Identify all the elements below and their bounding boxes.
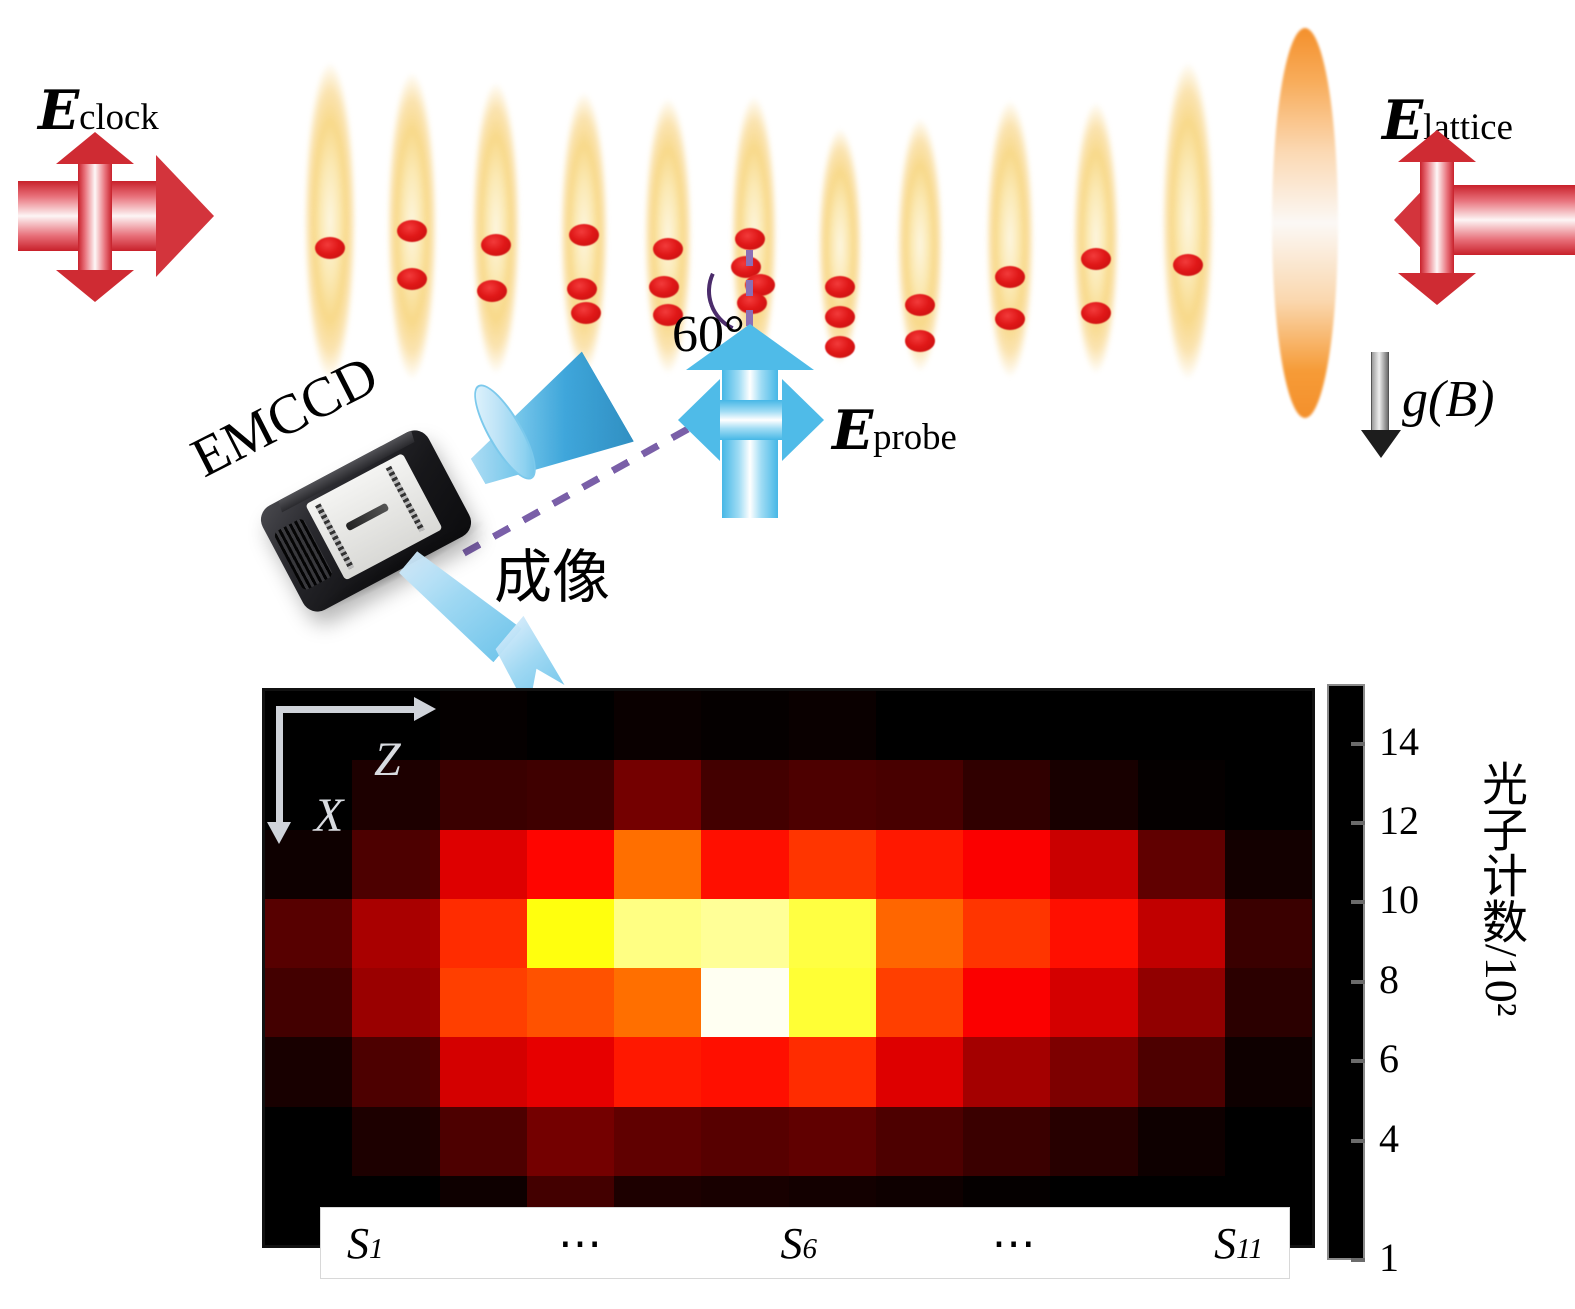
heatmap-cell (789, 691, 876, 760)
x-axis-label: X (314, 788, 343, 843)
colorbar-tick-mark (1351, 980, 1365, 984)
heatmap-cell (527, 899, 614, 968)
heatmap-cell (1138, 760, 1225, 829)
heatmap-cell (1225, 1107, 1312, 1176)
heatmap-cell (1050, 691, 1137, 760)
heatmap-cell (614, 760, 701, 829)
probe-field-subscript: probe (873, 416, 957, 457)
gravity-label: g(B) (1402, 370, 1494, 429)
heatmap-cell (701, 760, 788, 829)
atom (825, 306, 855, 328)
heatmap-cell (701, 691, 788, 760)
imaging-label: 成像 (494, 530, 610, 614)
colorbar-tick-label: 10 (1379, 876, 1419, 923)
heatmap-cell (701, 968, 788, 1037)
gravity-label-text: g(B) (1402, 371, 1494, 428)
heatmap-cell (614, 1037, 701, 1106)
heatmap-cell (265, 1107, 352, 1176)
heatmap-cell (440, 899, 527, 968)
colorbar-tick-mark (1351, 742, 1365, 746)
atom (995, 308, 1025, 330)
heatmap-cell (352, 1107, 439, 1176)
atom (481, 234, 511, 256)
heatmap-cell (1050, 1037, 1137, 1106)
atom (397, 220, 427, 242)
z-axis-label: Z (374, 732, 401, 787)
colorbar-label: 光子计数/10² (1468, 760, 1534, 1017)
heatmap-cell (527, 830, 614, 899)
atom (1173, 254, 1203, 276)
heatmap-cell (963, 968, 1050, 1037)
imaging-label-text: 成像 (494, 545, 610, 610)
heatmap-cell (789, 899, 876, 968)
colorbar-tick-mark (1351, 1139, 1365, 1143)
heatmap-cell (963, 691, 1050, 760)
heatmap-cell (1225, 830, 1312, 899)
atom (397, 268, 427, 290)
heatmap-cell (963, 830, 1050, 899)
heatmap-cell (614, 830, 701, 899)
lattice-site (818, 128, 862, 364)
axis-gizmo: Z X (262, 688, 522, 868)
heatmap-cell (1050, 830, 1137, 899)
colorbar-tick-label: 8 (1379, 956, 1399, 1003)
heatmap-cell (701, 1037, 788, 1106)
site-label: S1 (347, 1218, 384, 1269)
colorbar-tick-label: 4 (1379, 1115, 1399, 1162)
atom (567, 278, 597, 300)
atom (905, 330, 935, 352)
colorbar-tick-mark (1351, 1059, 1365, 1063)
heatmap-cell (614, 899, 701, 968)
colorbar-tick-mark (1351, 821, 1365, 825)
heatmap-cell (963, 1107, 1050, 1176)
heatmap-cell (265, 968, 352, 1037)
site-label-ellipsis: ⋯ (558, 1218, 606, 1269)
heatmap-cell (789, 968, 876, 1037)
colorbar-tick-label: 6 (1379, 1035, 1399, 1082)
heatmap-cell (876, 830, 963, 899)
colorbar-ticks: 1412108641 (1327, 684, 1447, 1260)
heatmap-cell (1225, 691, 1312, 760)
heatmap-cell (440, 968, 527, 1037)
atom (1081, 248, 1111, 270)
heatmap-cell (1225, 899, 1312, 968)
atom (315, 237, 345, 259)
colorbar-tick-label: 1 (1379, 1234, 1399, 1281)
lattice-site (304, 62, 356, 380)
heatmap-cell (1138, 1107, 1225, 1176)
heatmap-cell (789, 830, 876, 899)
colorbar-tick-mark (1351, 1258, 1365, 1262)
lattice-site (1073, 102, 1119, 374)
atom (995, 266, 1025, 288)
probe-field-symbol: E (832, 398, 873, 462)
lattice-polarization-arrow (1420, 160, 1454, 275)
heatmap-cell (963, 760, 1050, 829)
lattice-site (472, 82, 520, 374)
lattice-beam-arrow (1450, 185, 1575, 255)
colorbar-tick-mark (1351, 900, 1365, 904)
heatmap-cell (789, 760, 876, 829)
heatmap-cell (1225, 760, 1312, 829)
probe-field-label: Eprobe (832, 398, 957, 462)
heatmap-cell (527, 1037, 614, 1106)
x-axis-arrow (276, 706, 283, 824)
site-label-strip: S1⋯S6⋯S11 (320, 1207, 1290, 1279)
heatmap-cell (876, 1107, 963, 1176)
heatmap-cell (876, 691, 963, 760)
colorbar-tick-label: 12 (1379, 797, 1419, 844)
atom (477, 280, 507, 302)
heatmap-cell (1050, 760, 1137, 829)
heatmap-cell (963, 899, 1050, 968)
atom (825, 276, 855, 298)
heatmap-cell (352, 968, 439, 1037)
heatmap-cell (527, 760, 614, 829)
atom (653, 238, 683, 260)
heatmap-cell (614, 968, 701, 1037)
probe-beam-arrow (722, 368, 778, 518)
heatmap-cell (440, 1037, 527, 1106)
site-label: S11 (1214, 1218, 1263, 1269)
heatmap-cell (876, 760, 963, 829)
heatmap-cell (789, 1107, 876, 1176)
atom (825, 336, 855, 358)
atom (569, 224, 599, 246)
site-label: S6 (781, 1218, 818, 1269)
lattice-site (1162, 62, 1214, 380)
heatmap-cell (527, 691, 614, 760)
heatmap-cell (701, 830, 788, 899)
heatmap-cell (1138, 1037, 1225, 1106)
atom (571, 302, 601, 324)
atom (1081, 302, 1111, 324)
cavity-mirror-right (1272, 28, 1338, 418)
heatmap-cell (1050, 968, 1137, 1037)
probe-polarization-arrow (718, 400, 784, 440)
heatmap-cell (1050, 1107, 1137, 1176)
heatmap-cell (527, 968, 614, 1037)
heatmap-cell (789, 1037, 876, 1106)
heatmap-cell (701, 899, 788, 968)
heatmap-cell (527, 1107, 614, 1176)
heatmap-cell (876, 968, 963, 1037)
heatmap-cell (440, 1107, 527, 1176)
heatmap-cell (1225, 1037, 1312, 1106)
heatmap-cell (1138, 968, 1225, 1037)
heatmap-cell (701, 1107, 788, 1176)
heatmap-cell (876, 1037, 963, 1106)
heatmap-cell (876, 899, 963, 968)
atom (649, 276, 679, 298)
atom (905, 294, 935, 316)
heatmap-cell (352, 1037, 439, 1106)
site-label-ellipsis: ⋯ (992, 1218, 1040, 1269)
lattice-site (986, 100, 1034, 378)
heatmap-cell (614, 691, 701, 760)
z-axis-arrow (276, 706, 416, 713)
heatmap-cell (265, 899, 352, 968)
heatmap-cell (1225, 968, 1312, 1037)
heatmap-cell (1138, 899, 1225, 968)
heatmap-cell (963, 1037, 1050, 1106)
heatmap-cell (1138, 691, 1225, 760)
heatmap-cell (265, 1037, 352, 1106)
heatmap-cell (614, 1107, 701, 1176)
heatmap-cell (1138, 830, 1225, 899)
heatmap-cell (352, 899, 439, 968)
colorbar-tick-label: 14 (1379, 718, 1419, 765)
gravity-arrow (1371, 352, 1389, 432)
heatmap-cell (1050, 899, 1137, 968)
